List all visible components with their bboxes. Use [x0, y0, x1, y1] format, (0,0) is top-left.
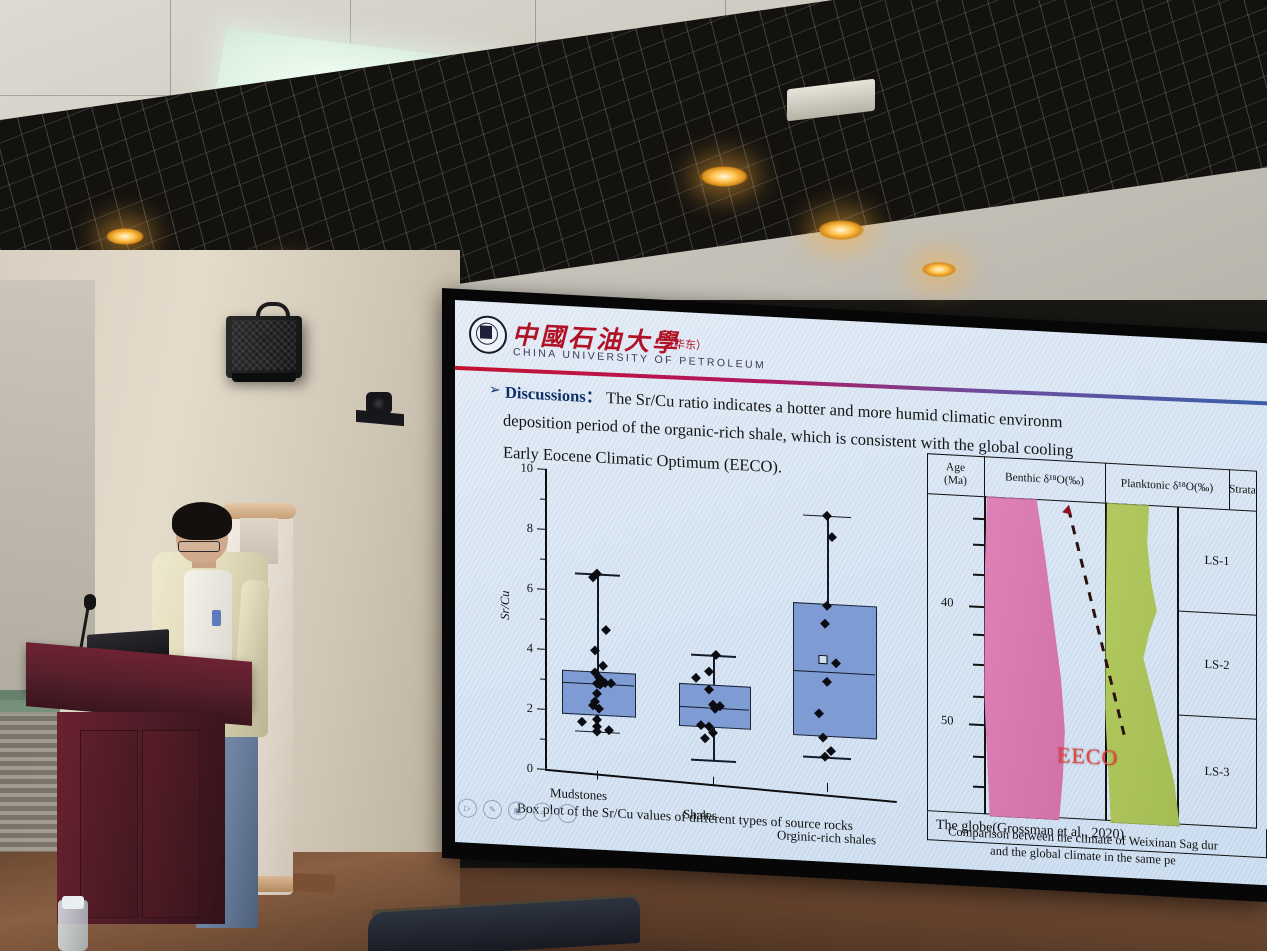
eeco-age-tick-50: 50	[941, 713, 954, 729]
boxplot-y-axis-title: Sr/Cu	[498, 590, 513, 620]
downlight-4	[818, 220, 864, 240]
eeco-header-planktonic: Planktonic δ¹⁸O(‰)	[1105, 463, 1230, 510]
eeco-header-age: Age (Ma)	[927, 453, 985, 496]
boxplot-ytick-2: 2	[527, 701, 533, 716]
water-bottle-cap	[62, 896, 84, 909]
discussions-label: Discussions：	[505, 383, 602, 407]
boxplot-ytick-10: 10	[521, 460, 534, 476]
eeco-age-tick-40: 40	[941, 595, 954, 611]
eeco-header-age-line1: Age	[944, 461, 967, 475]
strata-row-ls1: LS-1	[1177, 506, 1257, 615]
photo-scene: 中國石油大學 （华东） CHINA UNIVERSITY OF PETROLEU…	[0, 0, 1267, 951]
boxplot-ytick-8: 8	[527, 521, 533, 536]
eeco-header-age-line2: (Ma)	[944, 474, 967, 488]
boxplot-xlabel-mudstones: Mudstones	[550, 785, 607, 804]
speaker-icon	[226, 316, 302, 378]
downlight-3	[700, 166, 748, 187]
strata-row-ls2: LS-2	[1177, 610, 1257, 719]
downlight-5	[922, 262, 956, 277]
more-options-icon[interactable]: ⋯	[558, 803, 577, 823]
university-name-cn-suffix: （华东）	[663, 335, 707, 353]
podium-panel-right	[142, 730, 200, 918]
presenter-hair	[172, 502, 232, 540]
downlight-1	[106, 228, 144, 245]
glasses-icon	[178, 541, 220, 552]
bullet-arrow-icon: ➢	[489, 382, 501, 400]
pen-tool-icon[interactable]: ✎	[483, 799, 502, 819]
eeco-annotation-label: EECO	[1057, 742, 1118, 771]
zoom-tool-icon[interactable]: ⌕	[533, 802, 552, 822]
strata-row-ls3: LS-3	[1177, 714, 1257, 828]
boxplot-ytick-4: 4	[527, 641, 533, 656]
boxplot-ytick-0: 0	[527, 761, 533, 776]
presentation-slide[interactable]: 中國石油大學 （华东） CHINA UNIVERSITY OF PETROLEU…	[455, 300, 1267, 885]
podium-panel-left	[80, 730, 138, 918]
eeco-comparison-chart: Age (Ma) Benthic δ¹⁸O(‰) Planktonic δ¹⁸O…	[927, 453, 1257, 829]
next-slide-icon[interactable]: ▷	[458, 798, 477, 818]
university-seal-glyph	[480, 325, 492, 339]
microphone-icon	[84, 594, 96, 610]
camera-lens-icon	[372, 397, 385, 410]
eeco-header-strata: Strata	[1229, 469, 1257, 510]
eeco-header-benthic: Benthic δ¹⁸O(‰)	[984, 456, 1106, 503]
boxplot-ytick-6: 6	[527, 581, 533, 596]
pillar-cap	[222, 503, 296, 519]
boxplot-mean-marker	[819, 654, 828, 663]
speaker-base	[232, 373, 296, 382]
presenter-badge	[212, 610, 221, 626]
boxplot-chart: 10 8 6 4 2 0 Sr/Cu	[487, 462, 902, 814]
slide-overview-icon[interactable]: ▣	[508, 801, 527, 821]
